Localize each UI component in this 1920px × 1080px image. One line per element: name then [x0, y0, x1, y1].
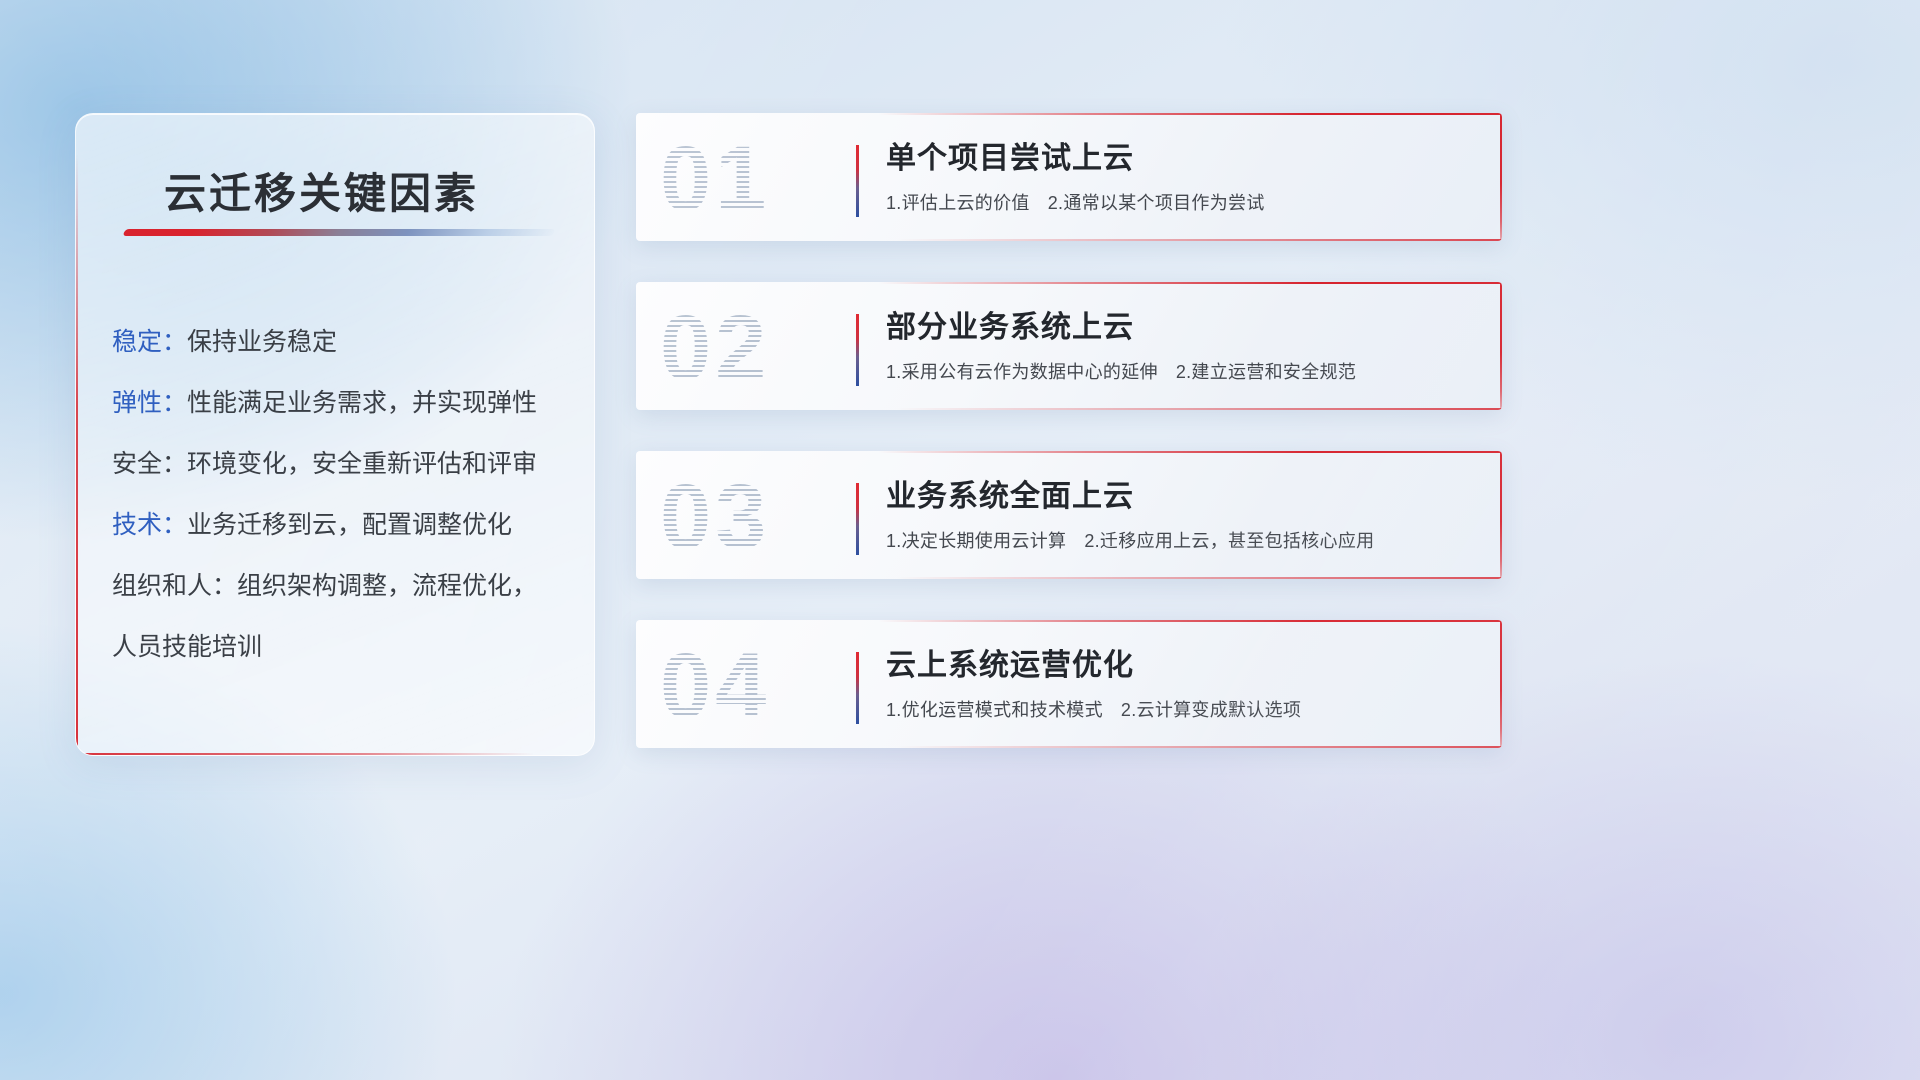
card-bottom-accent-line	[896, 577, 1502, 579]
slide-canvas: 云迁移关键因素 稳定：保持业务稳定 弹性：性能满足业务需求，并实现弹性 安全：环…	[0, 0, 1920, 1080]
step-card-01[interactable]: 01 单个项目尝试上云 1.评估上云的价值2.通常以某个项目作为尝试	[636, 113, 1502, 241]
factor-label: 安全：	[112, 450, 187, 478]
factor-label: 稳定：	[112, 328, 187, 356]
panel-left-accent-line	[76, 154, 78, 755]
step-point-2: 2.建立运营和安全规范	[1176, 362, 1356, 382]
card-right-accent-line	[1500, 113, 1502, 241]
page-title: 云迁移关键因素	[164, 160, 479, 221]
step-body: 云上系统运营优化 1.优化运营模式和技术模式2.云计算变成默认选项	[886, 645, 1474, 722]
key-factors-panel: 云迁移关键因素 稳定：保持业务稳定 弹性：性能满足业务需求，并实现弹性 安全：环…	[75, 113, 595, 756]
step-card-04[interactable]: 04 云上系统运营优化 1.优化运营模式和技术模式2.云计算变成默认选项	[636, 620, 1502, 748]
step-description: 1.优化运营模式和技术模式2.云计算变成默认选项	[886, 696, 1474, 722]
step-point-1: 1.决定长期使用云计算	[886, 531, 1066, 551]
card-right-accent-line	[1500, 620, 1502, 748]
panel-bottom-accent-line	[76, 753, 534, 755]
migration-steps-list: 01 单个项目尝试上云 1.评估上云的价值2.通常以某个项目作为尝试 02 部分…	[636, 113, 1502, 789]
factor-text: 人员技能培训	[112, 633, 262, 661]
step-point-2: 2.通常以某个项目作为尝试	[1048, 193, 1265, 213]
step-divider-bar	[856, 652, 859, 724]
step-number: 02	[660, 300, 840, 396]
factor-row: 组织和人：组织架构调整，流程优化，	[112, 556, 570, 617]
card-right-accent-line	[1500, 282, 1502, 410]
factor-list: 稳定：保持业务稳定 弹性：性能满足业务需求，并实现弹性 安全：环境变化，安全重新…	[112, 312, 570, 678]
factor-label: 弹性：	[112, 389, 187, 417]
factor-row: 安全：环境变化，安全重新评估和评审	[112, 434, 570, 495]
card-top-accent-line	[636, 282, 1502, 284]
step-point-1: 1.优化运营模式和技术模式	[886, 700, 1103, 720]
card-top-accent-line	[636, 113, 1502, 115]
step-title: 业务系统全面上云	[886, 476, 1474, 518]
step-number: 01	[660, 131, 840, 227]
step-card-03[interactable]: 03 业务系统全面上云 1.决定长期使用云计算2.迁移应用上云，甚至包括核心应用	[636, 451, 1502, 579]
factor-text: 环境变化，安全重新评估和评审	[187, 450, 537, 478]
factor-text: 性能满足业务需求，并实现弹性	[187, 389, 537, 417]
factor-text: 业务迁移到云，配置调整优化	[187, 511, 512, 539]
step-divider-bar	[856, 314, 859, 386]
card-bottom-accent-line	[896, 746, 1502, 748]
factor-row: 稳定：保持业务稳定	[112, 312, 570, 373]
step-description: 1.采用公有云作为数据中心的延伸2.建立运营和安全规范	[886, 358, 1474, 384]
step-divider-bar	[856, 145, 859, 217]
step-body: 部分业务系统上云 1.采用公有云作为数据中心的延伸2.建立运营和安全规范	[886, 307, 1474, 384]
factor-row: 弹性：性能满足业务需求，并实现弹性	[112, 373, 570, 434]
factor-text: 组织架构调整，流程优化，	[237, 572, 537, 600]
step-title: 部分业务系统上云	[886, 307, 1474, 349]
step-title: 云上系统运营优化	[886, 645, 1474, 687]
card-bottom-accent-line	[896, 239, 1502, 241]
factor-label: 技术：	[112, 511, 187, 539]
step-title: 单个项目尝试上云	[886, 138, 1474, 180]
factor-label: 组织和人：	[112, 572, 237, 600]
step-body: 业务系统全面上云 1.决定长期使用云计算2.迁移应用上云，甚至包括核心应用	[886, 476, 1474, 553]
title-underline-gradient	[122, 229, 555, 236]
factor-row: 技术：业务迁移到云，配置调整优化	[112, 495, 570, 556]
step-number: 04	[660, 638, 840, 734]
factor-text: 保持业务稳定	[187, 328, 337, 356]
card-top-accent-line	[636, 620, 1502, 622]
step-point-2: 2.云计算变成默认选项	[1121, 700, 1301, 720]
card-bottom-accent-line	[896, 408, 1502, 410]
step-point-1: 1.采用公有云作为数据中心的延伸	[886, 362, 1158, 382]
step-number: 03	[660, 469, 840, 565]
step-body: 单个项目尝试上云 1.评估上云的价值2.通常以某个项目作为尝试	[886, 138, 1474, 215]
step-point-2: 2.迁移应用上云，甚至包括核心应用	[1084, 531, 1374, 551]
step-card-02[interactable]: 02 部分业务系统上云 1.采用公有云作为数据中心的延伸2.建立运营和安全规范	[636, 282, 1502, 410]
card-top-accent-line	[636, 451, 1502, 453]
card-right-accent-line	[1500, 451, 1502, 579]
step-description: 1.评估上云的价值2.通常以某个项目作为尝试	[886, 189, 1474, 215]
step-point-1: 1.评估上云的价值	[886, 193, 1030, 213]
factor-row-continuation: 人员技能培训	[112, 617, 570, 678]
step-description: 1.决定长期使用云计算2.迁移应用上云，甚至包括核心应用	[886, 527, 1474, 553]
step-divider-bar	[856, 483, 859, 555]
